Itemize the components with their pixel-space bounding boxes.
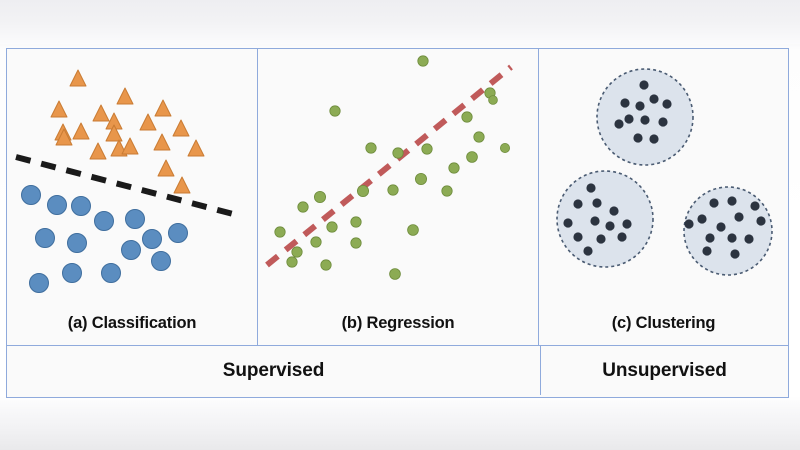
label-supervised: Supervised (223, 360, 324, 382)
label-unsupervised: Unsupervised (602, 360, 726, 382)
panel-regression: (b) Regression (258, 49, 539, 345)
caption-clustering: (c) Clustering (612, 314, 716, 333)
regression-point-markers (275, 56, 510, 280)
cluster-blob-left (557, 171, 653, 267)
summary-row: Supervised Unsupervised (7, 345, 788, 395)
caption-row-regression: (b) Regression (258, 301, 538, 345)
ml-taxonomy-figure: (a) Classification (6, 48, 789, 398)
cluster-blob-top (597, 69, 693, 165)
regression-trend-line (267, 67, 511, 265)
clustering-plot (539, 49, 788, 301)
figure-stage: (a) Classification (0, 0, 800, 450)
regression-scatter-svg (258, 49, 539, 301)
summary-cell-supervised: Supervised (7, 346, 541, 395)
caption-classification: (a) Classification (68, 314, 196, 333)
cluster-blob-right (684, 187, 772, 275)
caption-row-classification: (a) Classification (7, 301, 257, 345)
panel-classification: (a) Classification (7, 49, 258, 345)
clustering-svg (539, 49, 788, 301)
class-b-circle-markers (22, 186, 188, 293)
caption-row-clustering: (c) Clustering (539, 301, 788, 345)
regression-plot (258, 49, 538, 301)
classification-plot (7, 49, 257, 301)
classification-scatter-svg (7, 49, 258, 301)
summary-cell-unsupervised: Unsupervised (541, 346, 788, 395)
panels-row: (a) Classification (7, 49, 788, 345)
panel-clustering: (c) Clustering (539, 49, 788, 345)
caption-regression: (b) Regression (342, 314, 455, 333)
